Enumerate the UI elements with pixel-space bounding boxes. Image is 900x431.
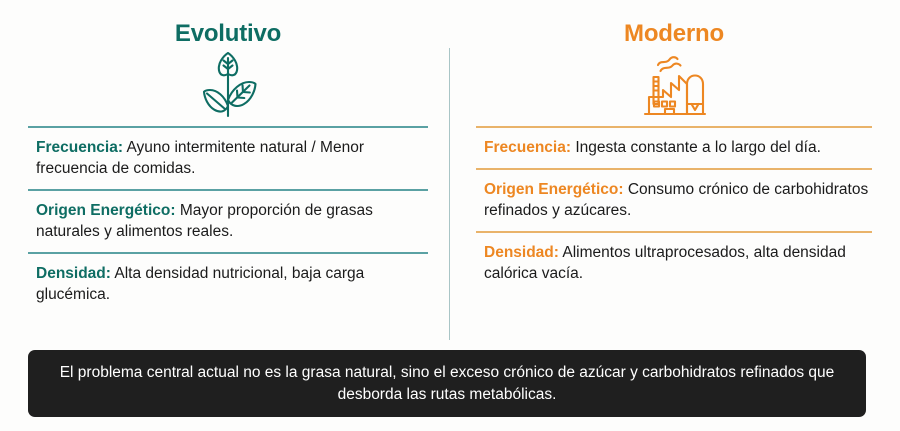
row-content: Origen Energético: Consumo crónico de ca…	[484, 179, 870, 221]
row-content: Densidad: Alimentos ultraprocesados, alt…	[484, 242, 870, 284]
column-divider	[449, 48, 450, 340]
row-densidad-evolutivo: Densidad: Alta densidad nutricional, baj…	[28, 252, 428, 315]
column-title-moderno: Moderno	[476, 20, 872, 48]
row-frecuencia-evolutivo: Frecuencia: Ayuno intermitente natural /…	[28, 126, 428, 189]
row-content: Origen Energético: Mayor proporción de g…	[36, 200, 426, 242]
factory-icon	[476, 50, 872, 120]
comparison-infographic: Evolutivo	[0, 0, 900, 431]
column-moderno: Moderno	[450, 0, 900, 345]
row-frecuencia-moderno: Frecuencia: Ingesta constante a lo largo…	[476, 126, 872, 168]
rows-evolutivo: Frecuencia: Ayuno intermitente natural /…	[28, 126, 428, 315]
row-value: Ingesta constante a lo largo del día.	[571, 139, 821, 156]
column-evolutivo: Evolutivo	[0, 0, 450, 345]
row-label: Origen Energético:	[484, 181, 624, 198]
row-content: Densidad: Alta densidad nutricional, baj…	[36, 263, 426, 305]
row-label: Frecuencia:	[36, 139, 123, 156]
row-origen-energetico-evolutivo: Origen Energético: Mayor proporción de g…	[28, 189, 428, 252]
conclusion-banner: El problema central actual no es la gras…	[28, 350, 866, 417]
row-label: Frecuencia:	[484, 139, 571, 156]
leaf-plant-icon	[28, 50, 428, 120]
conclusion-banner-text: El problema central actual no es la gras…	[58, 362, 836, 406]
rows-moderno: Frecuencia: Ingesta constante a lo largo…	[476, 126, 872, 294]
column-title-evolutivo: Evolutivo	[28, 20, 428, 48]
comparison-columns: Evolutivo	[0, 0, 900, 345]
row-label: Origen Energético:	[36, 202, 176, 219]
row-content: Frecuencia: Ayuno intermitente natural /…	[36, 137, 426, 179]
row-content: Frecuencia: Ingesta constante a lo largo…	[484, 137, 870, 158]
row-origen-energetico-moderno: Origen Energético: Consumo crónico de ca…	[476, 168, 872, 231]
row-label: Densidad:	[36, 265, 111, 282]
row-densidad-moderno: Densidad: Alimentos ultraprocesados, alt…	[476, 231, 872, 294]
row-label: Densidad:	[484, 244, 559, 261]
